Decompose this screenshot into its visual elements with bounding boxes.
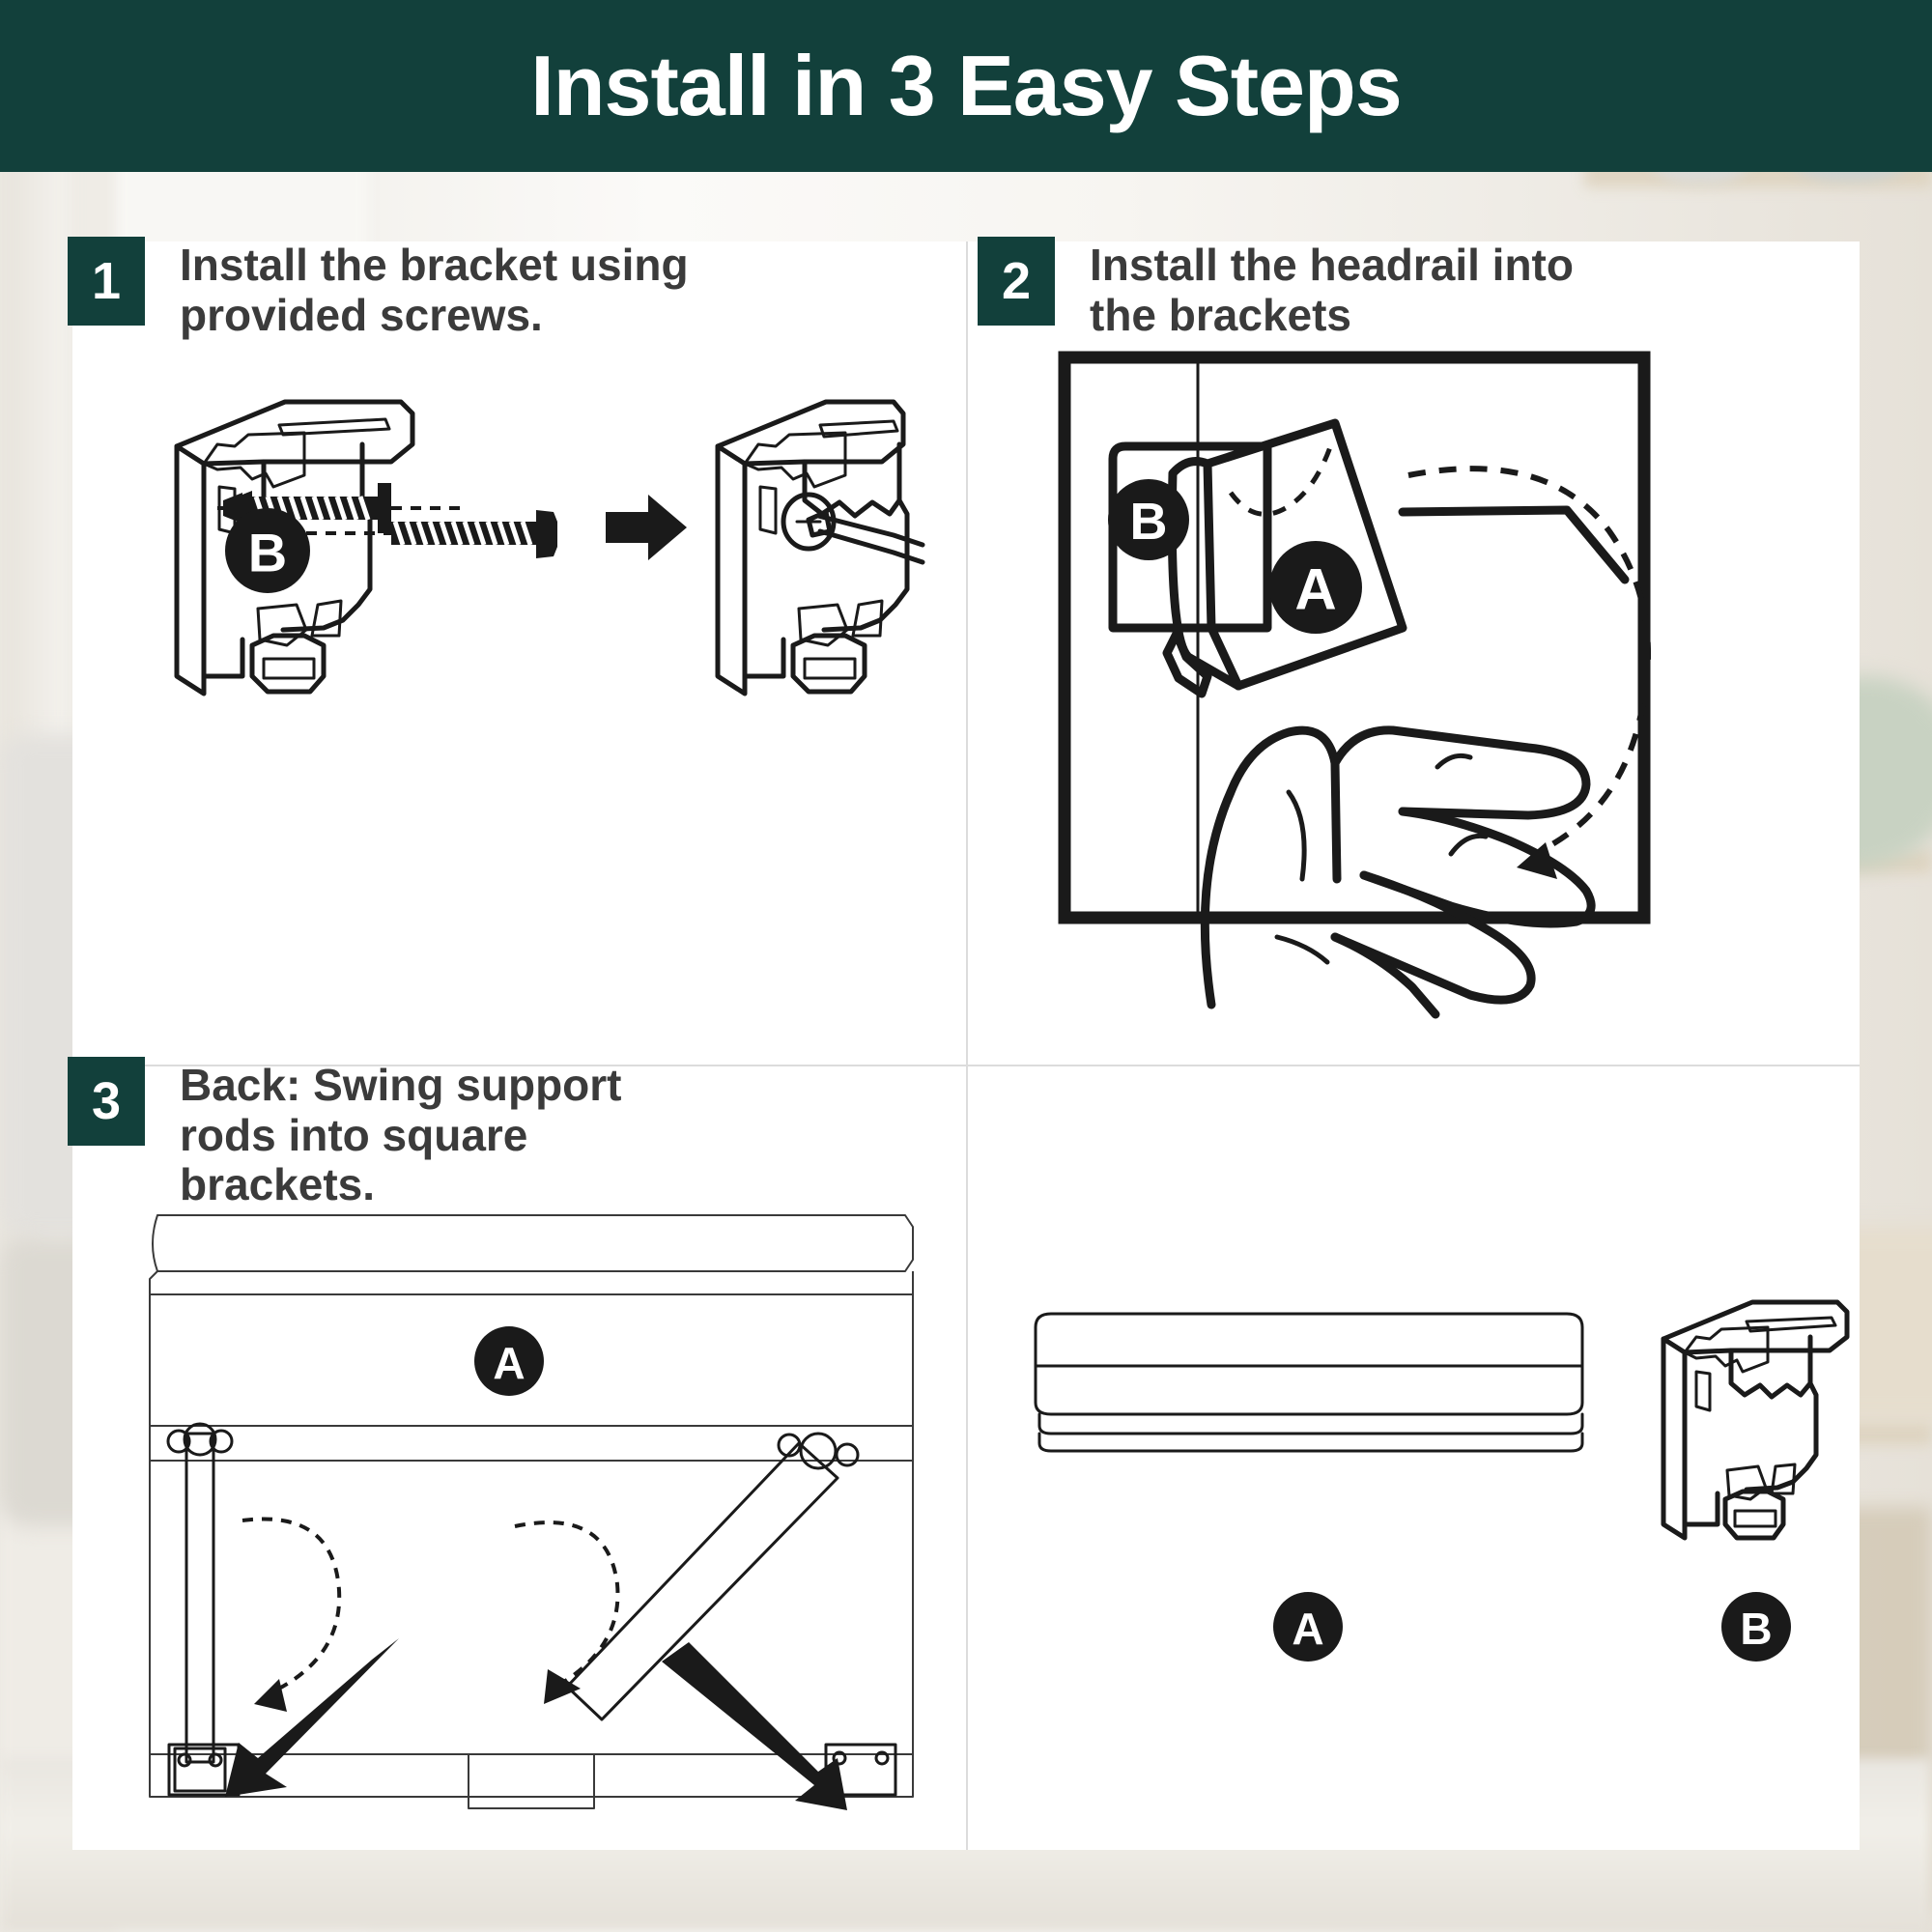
- illustration-frame: [1065, 357, 1644, 918]
- step-2-panel: 2 Install the headrail into the brackets: [968, 241, 1860, 1065]
- shade-headrail-top: [150, 1215, 913, 1294]
- infographic-root: Install in 3 Easy Steps 1 Install the br…: [0, 0, 1932, 1932]
- rotation-arc-left: [242, 1520, 339, 1713]
- step-1-header: 1 Install the bracket using provided scr…: [68, 237, 721, 340]
- support-rod-left: [168, 1424, 232, 1791]
- step-3-number-badge: 3: [68, 1057, 145, 1146]
- svg-text:B: B: [248, 523, 287, 583]
- step-2-number-badge: 2: [978, 237, 1055, 326]
- parts-legend-panel: A: [968, 1066, 1860, 1850]
- instructions-card: 1 Install the bracket using provided scr…: [72, 241, 1860, 1850]
- bracket-right-drawing: [718, 402, 923, 694]
- step-1-instruction-text: Install the bracket using provided screw…: [180, 237, 721, 340]
- step-1-illustration: B: [159, 386, 894, 792]
- callout-b-step1: B: [225, 508, 310, 593]
- callout-a-step2: A: [1269, 541, 1362, 634]
- step-1-number-badge: 1: [68, 237, 145, 326]
- step-3-instruction-text: Back: Swing support rods into square bra…: [180, 1057, 721, 1210]
- svg-text:A: A: [1294, 557, 1336, 622]
- callout-b-step2: B: [1108, 479, 1189, 560]
- svg-text:B: B: [1740, 1604, 1772, 1654]
- step-2-instruction-text: Install the headrail into the brackets: [1090, 237, 1631, 340]
- step-3-illustration: A: [150, 1202, 913, 1820]
- step-2-header: 2 Install the headrail into the brackets: [978, 237, 1631, 340]
- svg-text:A: A: [1292, 1604, 1323, 1654]
- svg-text:B: B: [1130, 493, 1168, 551]
- parts-legend-illustration: A: [968, 1289, 1860, 1830]
- part-b-label: B: [1721, 1592, 1791, 1662]
- insert-arrow-right: [662, 1642, 847, 1810]
- step-3-header: 3 Back: Swing support rods into square b…: [68, 1057, 721, 1210]
- screw-lower: [391, 510, 557, 558]
- page-header-banner: Install in 3 Easy Steps: [0, 0, 1932, 172]
- rotation-arc-right: [515, 1522, 618, 1704]
- hand-drawing: [1205, 730, 1591, 1014]
- part-a-label: A: [1273, 1592, 1343, 1662]
- step-1-panel: 1 Install the bracket using provided scr…: [72, 241, 966, 1065]
- page-title: Install in 3 Easy Steps: [530, 43, 1401, 128]
- callout-a-step3: A: [474, 1326, 544, 1396]
- process-arrow-icon: [606, 495, 687, 560]
- step-2-illustration: B A: [949, 338, 1857, 1014]
- svg-text:A: A: [493, 1338, 525, 1388]
- part-b-bracket-drawing: [1663, 1302, 1847, 1538]
- part-a-headrail-drawing: [1036, 1314, 1582, 1451]
- step-3-panel: 3 Back: Swing support rods into square b…: [72, 1066, 966, 1850]
